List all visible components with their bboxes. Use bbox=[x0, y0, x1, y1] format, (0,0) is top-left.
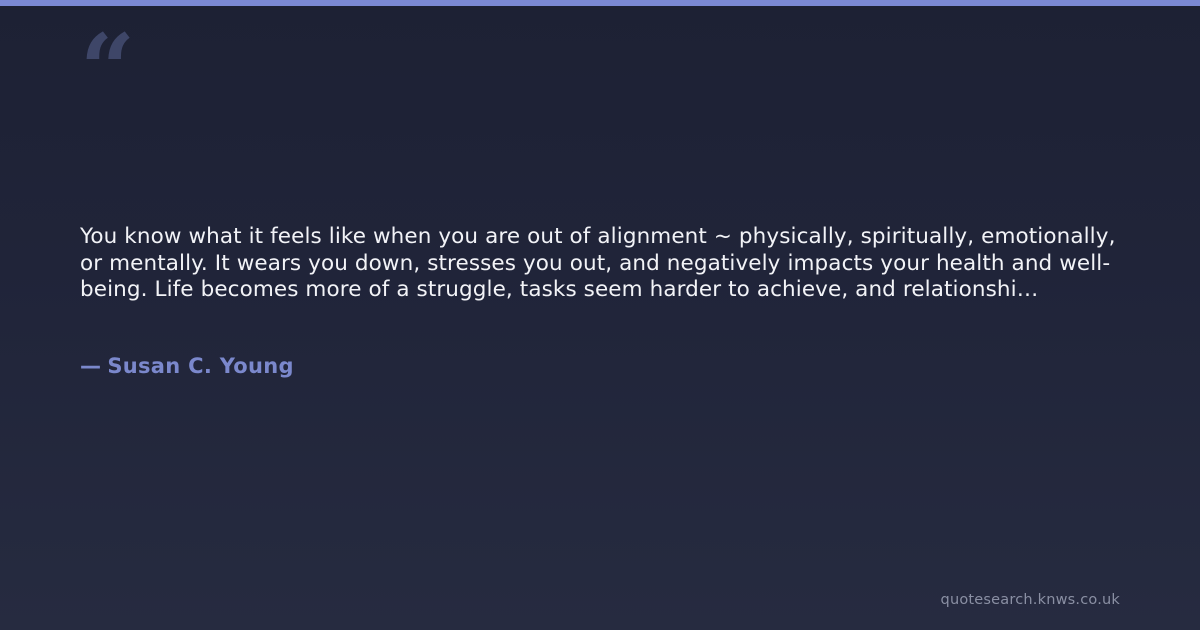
quotation-mark-icon: “ bbox=[80, 22, 133, 118]
quote-body: You know what it feels like when you are… bbox=[80, 224, 1126, 304]
quote-text: You know what it feels like when you are… bbox=[80, 224, 1126, 304]
quote-attribution: —Susan C. Young bbox=[80, 354, 294, 378]
top-accent-bar bbox=[0, 0, 1200, 6]
site-url-label: quotesearch.knws.co.uk bbox=[941, 592, 1120, 608]
author-name: Susan C. Young bbox=[107, 354, 294, 378]
attribution-dash: — bbox=[80, 354, 101, 378]
quote-card: “ You know what it feels like when you a… bbox=[0, 0, 1200, 630]
